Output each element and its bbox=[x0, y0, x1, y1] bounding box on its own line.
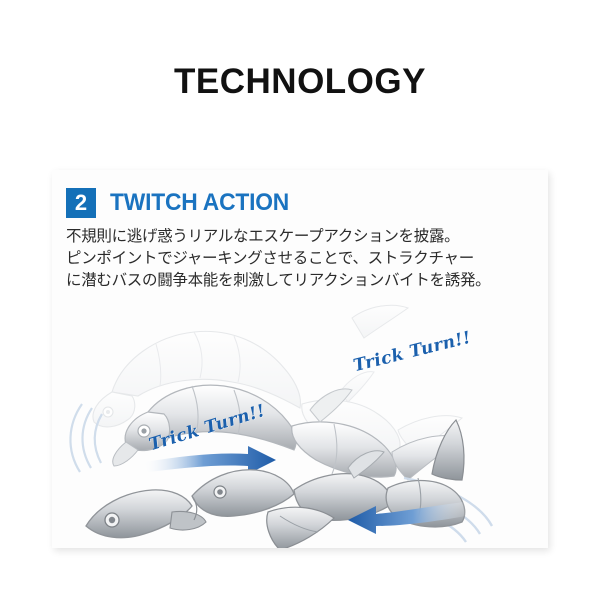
page-title: TECHNOLOGY bbox=[0, 64, 600, 99]
technology-page: TECHNOLOGY 2 TWITCH ACTION 不規則に逃げ惑うリアルなエ… bbox=[0, 0, 600, 600]
description-line-2: ピンポイントでジャーキングさせることで、ストラクチャー bbox=[66, 247, 538, 269]
description-line-1: 不規則に逃げ惑うリアルなエスケープアクションを披露。 bbox=[66, 225, 538, 247]
section-description: 不規則に逃げ惑うリアルなエスケープアクションを披露。 ピンポイントでジャーキング… bbox=[66, 225, 538, 291]
section-heading-label: TWITCH ACTION bbox=[110, 191, 289, 215]
description-line-3: に潜むバスの闘争本能を刺激してリアクションバイトを誘発。 bbox=[66, 269, 538, 291]
section-heading-row: 2 TWITCH ACTION bbox=[66, 188, 298, 218]
technology-card: 2 TWITCH ACTION 不規則に逃げ惑うリアルなエスケープアクションを披… bbox=[52, 170, 548, 548]
lure-action-illustration: Trick Turn!! Trick Turn!! bbox=[52, 300, 548, 548]
lure-action-svg bbox=[52, 300, 548, 548]
lure-tail-bottom bbox=[267, 507, 334, 548]
step-number-badge: 2 bbox=[66, 188, 96, 218]
